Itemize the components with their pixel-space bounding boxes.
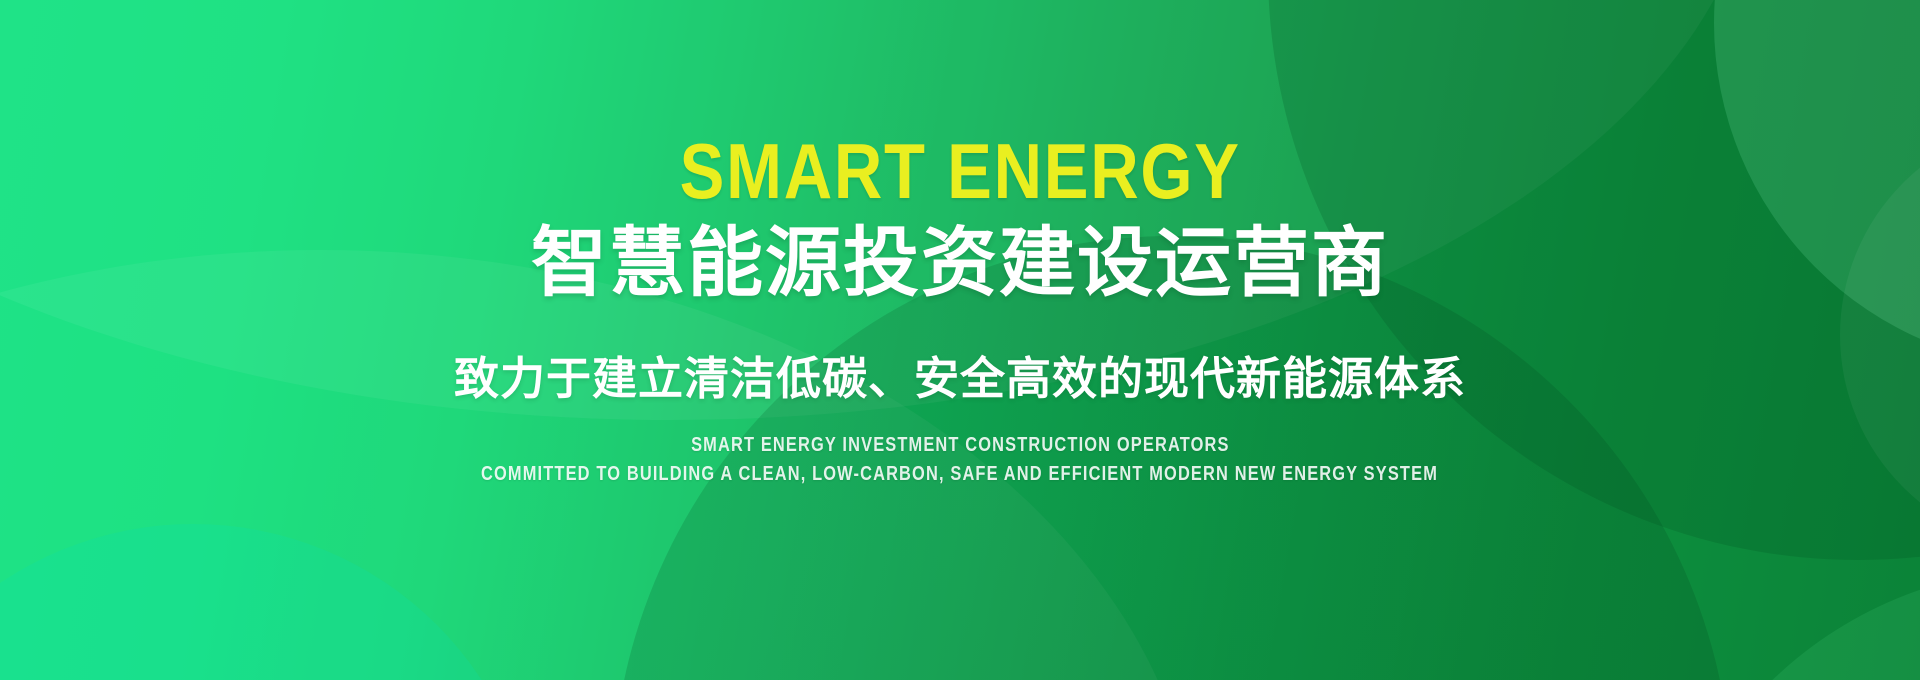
banner-title-english: SMART ENERGY [679,132,1240,210]
banner-content: SMART ENERGY 智慧能源投资建设运营商 致力于建立清洁低碳、安全高效的… [0,0,1920,680]
smart-energy-banner: SMART ENERGY 智慧能源投资建设运营商 致力于建立清洁低碳、安全高效的… [0,0,1920,680]
banner-caption-english-line-2: COMMITTED TO BUILDING A CLEAN, LOW-CARBO… [482,461,1439,488]
banner-title-chinese: 智慧能源投资建设运营商 [531,222,1389,304]
banner-caption-english-line-1: SMART ENERGY INVESTMENT CONSTRUCTION OPE… [691,432,1229,459]
banner-subtitle-chinese: 致力于建立清洁低碳、安全高效的现代新能源体系 [454,352,1466,406]
